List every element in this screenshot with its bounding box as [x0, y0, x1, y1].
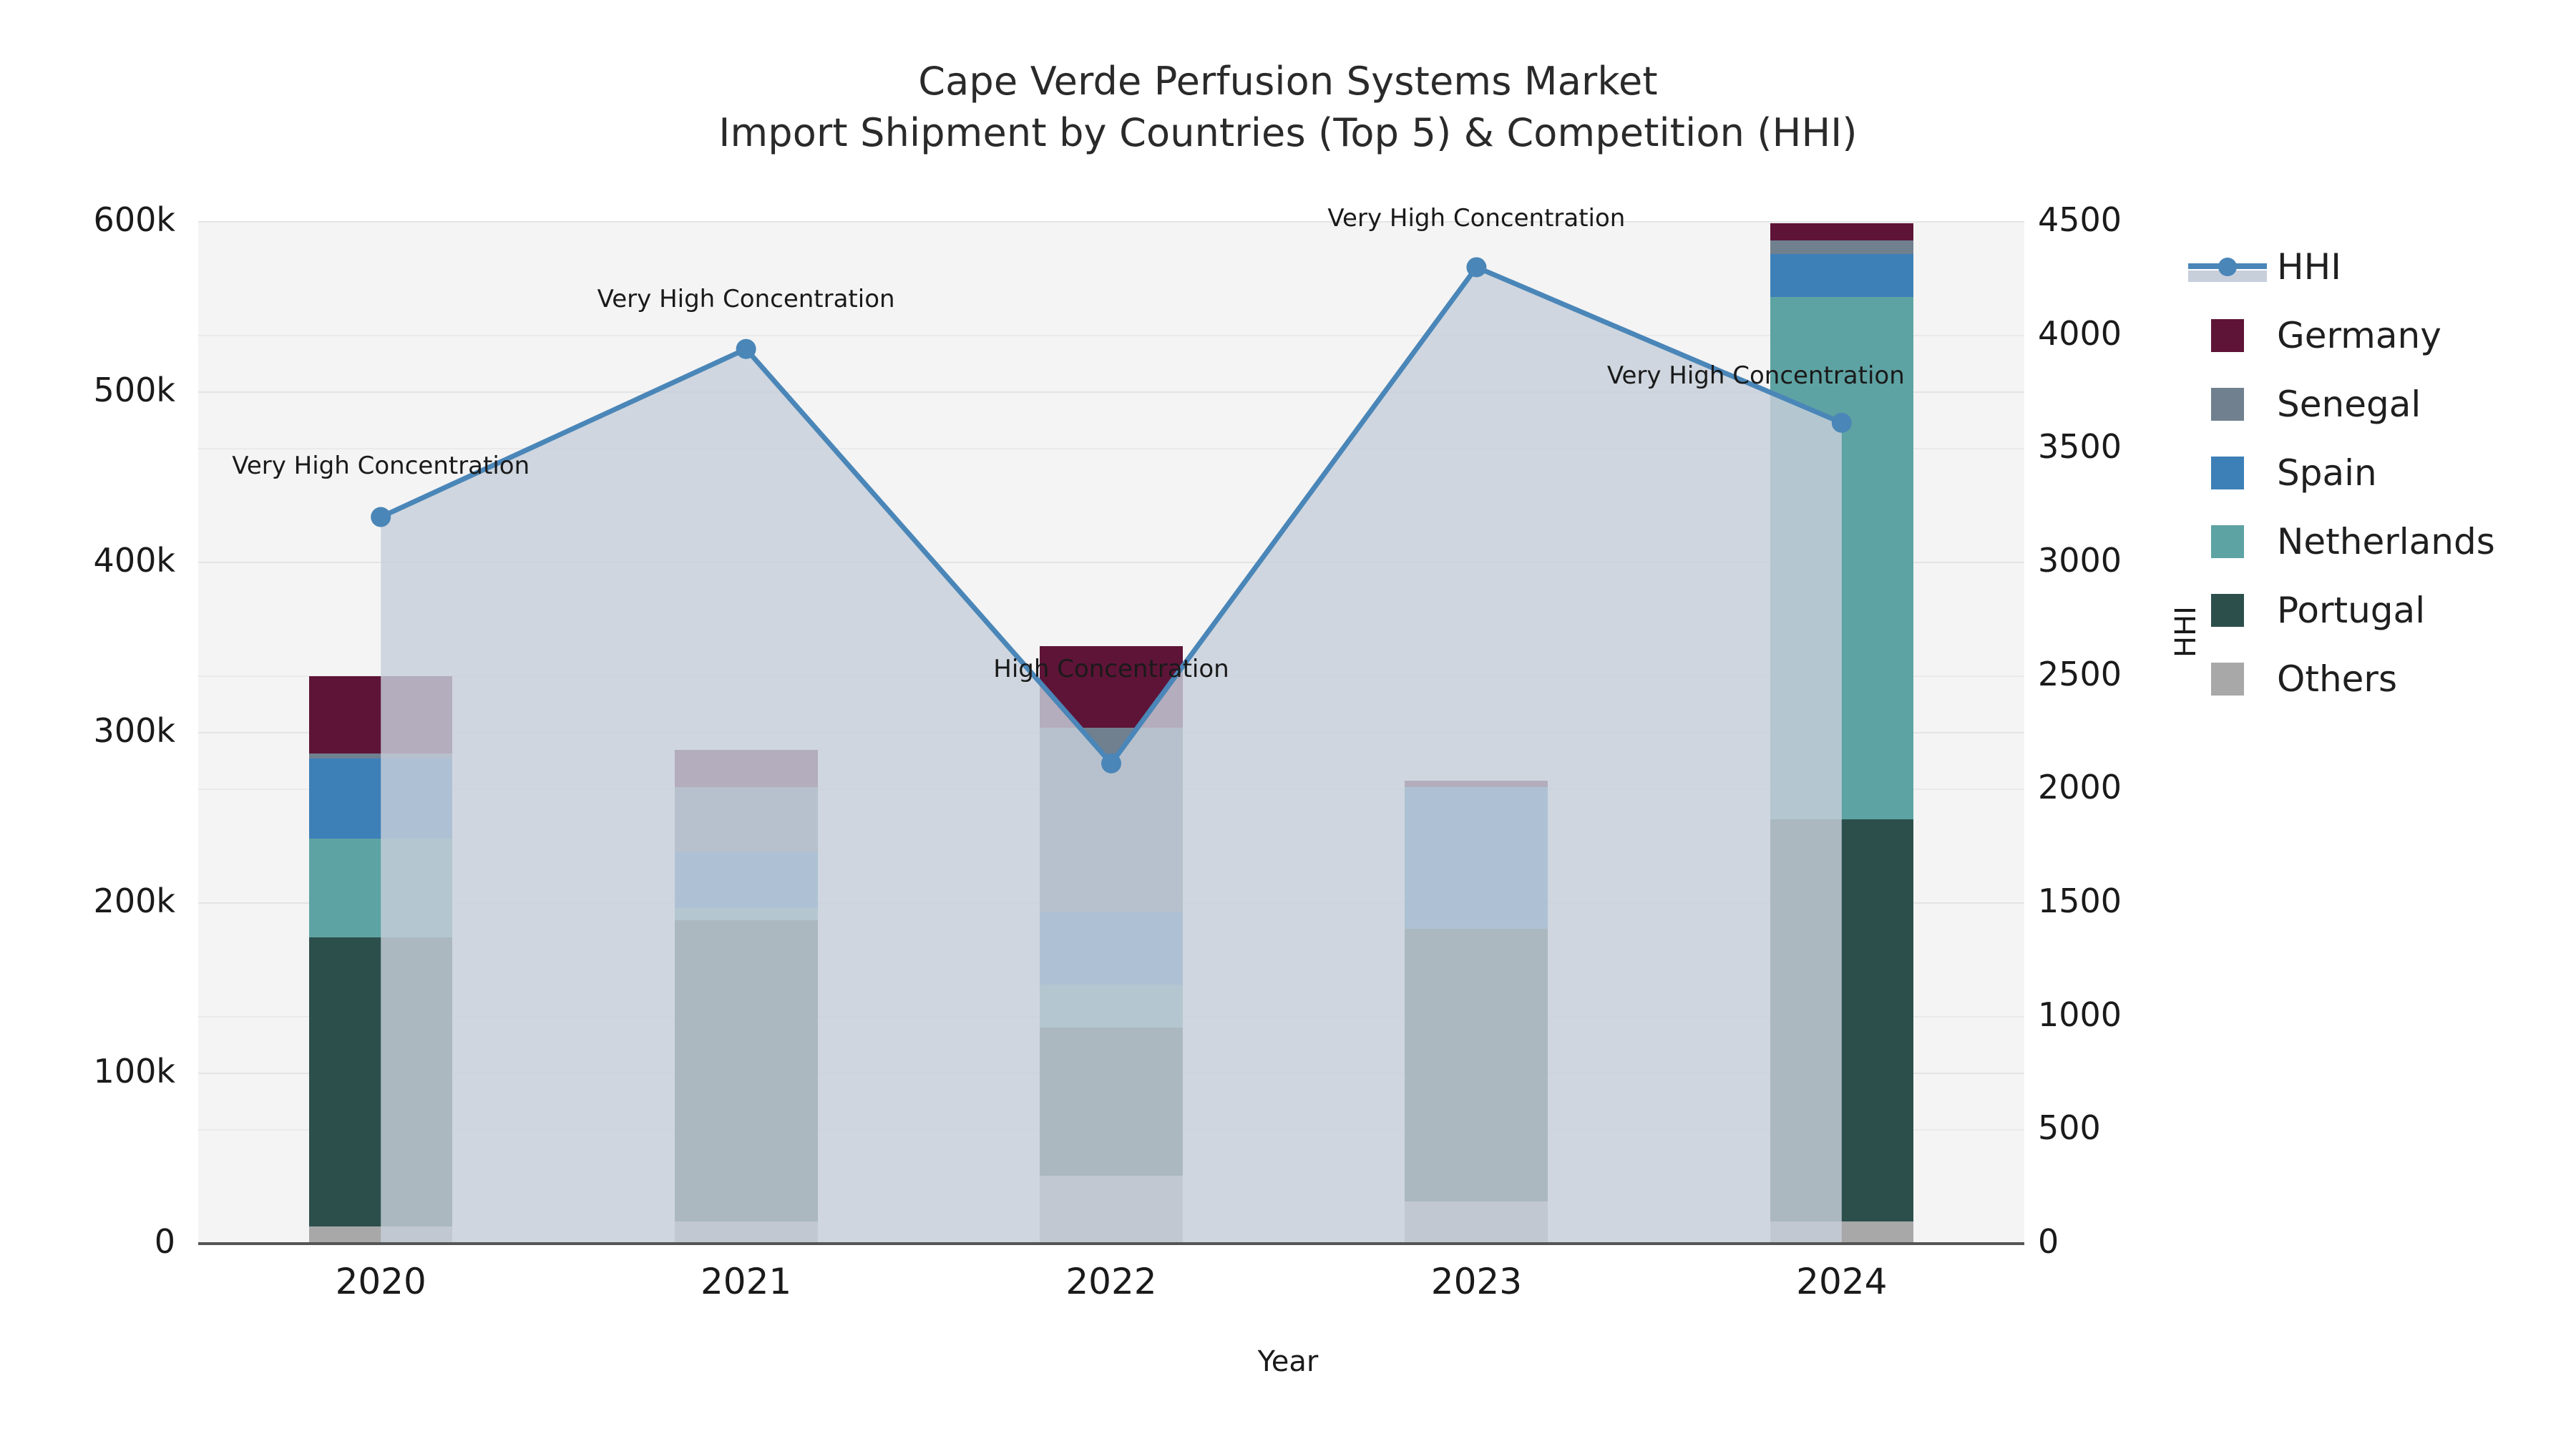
legend-swatch-germany: [2211, 319, 2244, 352]
legend-swatch-others: [2211, 663, 2244, 696]
legend-item-hhi[interactable]: HHI: [2211, 233, 2576, 301]
hhi-marker-2021[interactable]: [736, 339, 756, 359]
legend-label: Netherlands: [2277, 524, 2495, 560]
y-tick-left: 300k: [0, 711, 175, 750]
legend-label: Others: [2277, 661, 2397, 697]
hhi-marker-2022[interactable]: [1101, 753, 1121, 774]
y-tick-left: 500k: [0, 371, 175, 409]
legend-swatch-senegal: [2211, 388, 2244, 421]
legend-label: Germany: [2277, 318, 2441, 353]
y-tick-left: 100k: [0, 1052, 175, 1091]
y-tick-left: 0: [0, 1222, 175, 1261]
annotation-2023: Very High Concentration: [1327, 204, 1625, 233]
x-axis-title: Year: [0, 1345, 2576, 1378]
legend-item-others[interactable]: Others: [2211, 645, 2576, 713]
legend-label: Senegal: [2277, 386, 2421, 422]
y-tick-right: 500: [2038, 1108, 2253, 1147]
hhi-marker-2024[interactable]: [1832, 413, 1852, 433]
legend-item-senegal[interactable]: Senegal: [2211, 370, 2576, 439]
x-tick-2022: 2022: [1004, 1261, 1219, 1302]
y-tick-right: 0: [2038, 1222, 2253, 1261]
legend: HHIGermanySenegalSpainNetherlandsPortuga…: [2211, 233, 2576, 713]
annotation-2022: High Concentration: [993, 655, 1229, 683]
x-tick-2020: 2020: [273, 1261, 488, 1302]
legend-item-spain[interactable]: Spain: [2211, 439, 2576, 507]
x-tick-2023: 2023: [1369, 1261, 1584, 1302]
chart-canvas: Cape Verde Perfusion Systems Market Impo…: [0, 0, 2576, 1449]
y-tick-right: 1000: [2038, 995, 2253, 1034]
legend-swatch-portugal: [2211, 594, 2244, 627]
annotation-2024: Very High Concentration: [1607, 361, 1905, 390]
x-tick-2021: 2021: [639, 1261, 854, 1302]
chart-title: Cape Verde Perfusion Systems Market: [0, 56, 2576, 107]
chart-title-block: Cape Verde Perfusion Systems Market Impo…: [0, 56, 2576, 159]
plot-area: Very High ConcentrationVery High Concent…: [198, 222, 2024, 1244]
y-tick-left: 600k: [0, 200, 175, 239]
y-tick-left: 400k: [0, 541, 175, 580]
y-tick-right: 1500: [2038, 882, 2253, 920]
legend-item-netherlands[interactable]: Netherlands: [2211, 507, 2576, 576]
legend-item-portugal[interactable]: Portugal: [2211, 576, 2576, 645]
annotation-2020: Very High Concentration: [232, 452, 530, 480]
legend-label: Spain: [2277, 455, 2377, 491]
chart-subtitle: Import Shipment by Countries (Top 5) & C…: [0, 107, 2576, 159]
hhi-marker-2020[interactable]: [371, 507, 391, 527]
legend-label: Portugal: [2277, 592, 2425, 628]
y-tick-right: 2000: [2038, 768, 2253, 806]
hhi-marker-2023[interactable]: [1466, 257, 1486, 277]
x-tick-2024: 2024: [1735, 1261, 1949, 1302]
annotation-2021: Very High Concentration: [597, 285, 895, 313]
hhi-line-icon: [2211, 250, 2244, 283]
plot-inner: Very High ConcentrationVery High Concent…: [198, 222, 2024, 1244]
legend-label: HHI: [2277, 249, 2341, 285]
legend-swatch-netherlands: [2211, 525, 2244, 558]
legend-item-germany[interactable]: Germany: [2211, 301, 2576, 370]
y-tick-left: 200k: [0, 882, 175, 920]
legend-swatch-spain: [2211, 457, 2244, 489]
x-axis-line: [198, 1242, 2024, 1245]
